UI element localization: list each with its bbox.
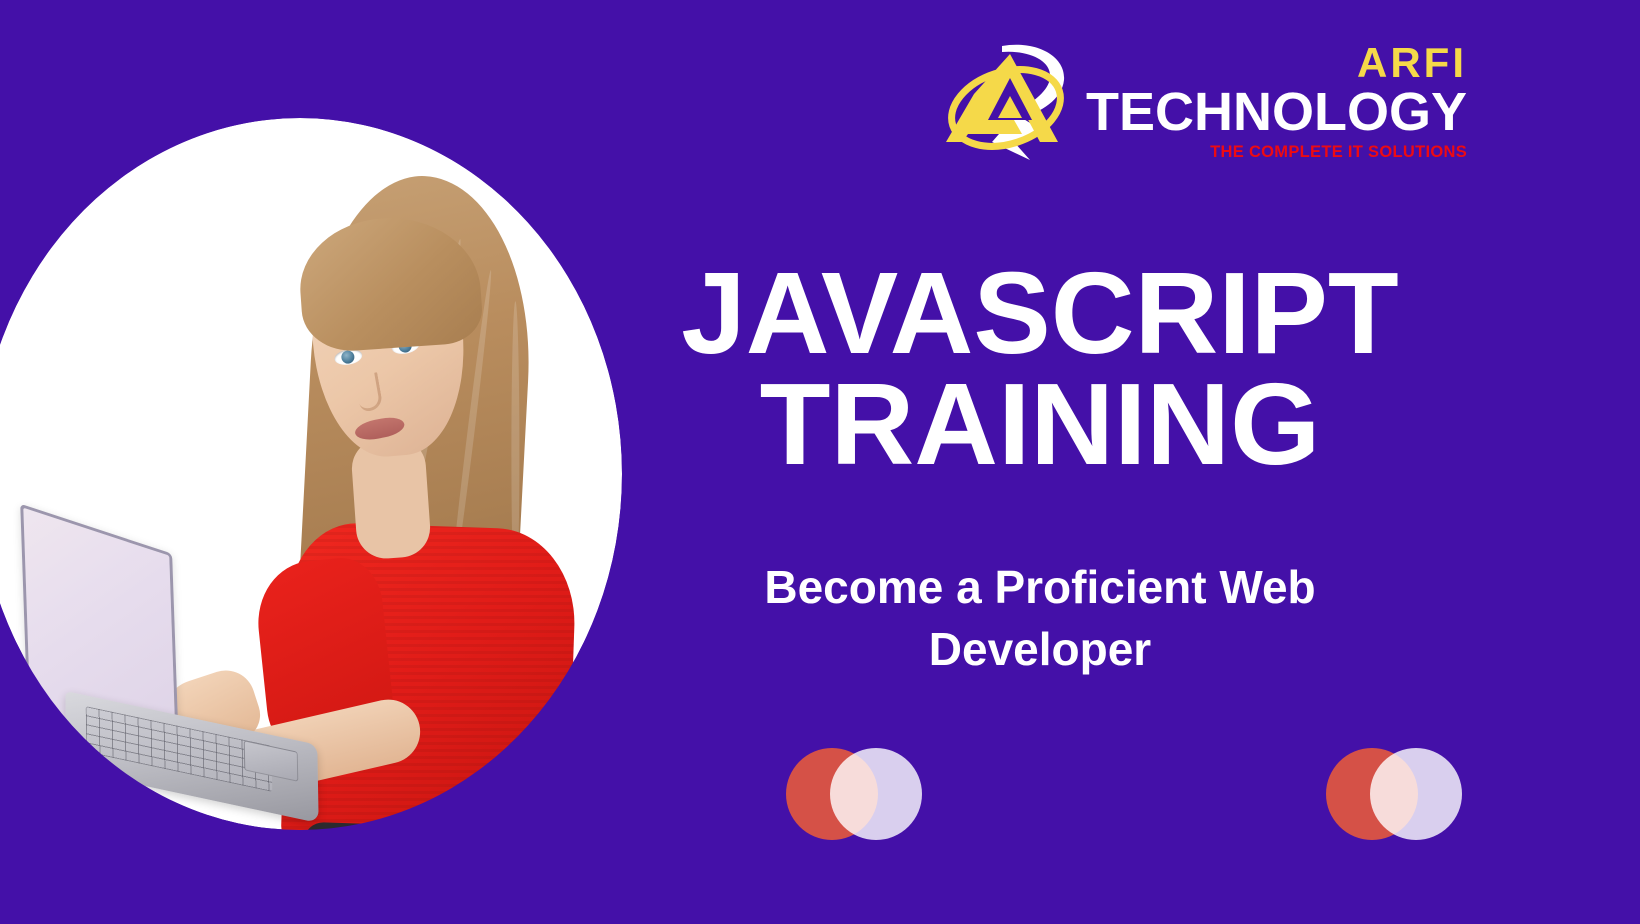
javascript-training-banner: ARFI TECHNOLOGY THE COMPLETE IT SOLUTION… [0,0,1640,924]
headline: JAVASCRIPT TRAINING [620,258,1460,481]
decor-circle-white [1370,748,1462,840]
headline-line-1: JAVASCRIPT [620,258,1460,369]
logo-tagline: THE COMPLETE IT SOLUTIONS [1210,144,1467,161]
logo-wordmark: ARFI TECHNOLOGY THE COMPLETE IT SOLUTION… [1086,42,1467,161]
subtitle: Become a Proficient Web Developer [690,556,1390,680]
arfi-a-monogram-icon [944,38,1076,164]
lips [353,415,406,443]
nose [354,372,383,412]
logo-brand-secondary: TECHNOLOGY [1086,85,1467,139]
headline-line-2: TRAINING [620,369,1460,480]
overlapping-circles-left [786,748,922,840]
overlapping-circles-right [1326,748,1462,840]
laptop [8,530,328,800]
brand-logo: ARFI TECHNOLOGY THE COMPLETE IT SOLUTION… [944,36,1376,166]
dark-jeans [300,822,554,924]
logo-brand-primary: ARFI [1357,42,1467,84]
photo-stage [0,118,622,838]
decor-circle-white [830,748,922,840]
